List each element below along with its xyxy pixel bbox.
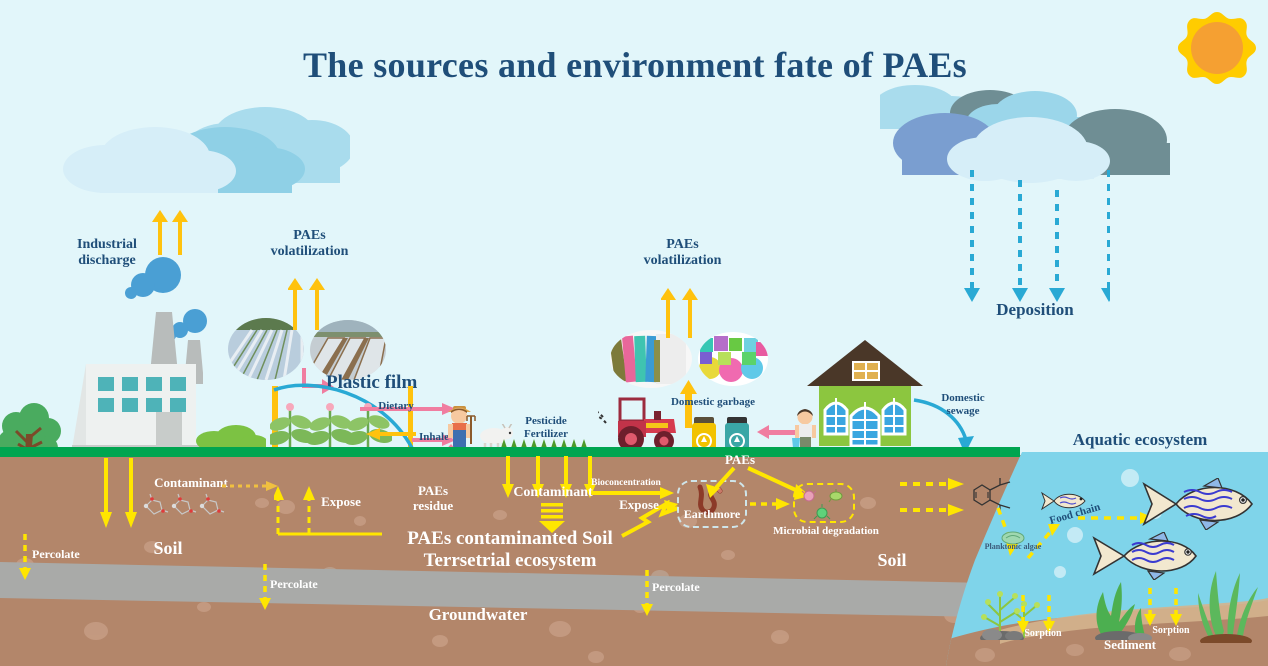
- label-planktonic-algae: Planktonic algae: [968, 542, 1058, 551]
- label-sorption-left: Sorption: [1008, 628, 1078, 640]
- diagram-canvas: Industrial discharge: [0, 0, 1268, 666]
- label-aquatic-ecosystem: Aquatic ecosystem: [1045, 430, 1235, 450]
- label-sorption-right: Sorption: [1136, 625, 1206, 637]
- page-title: The sources and environment fate of PAEs: [190, 45, 1080, 86]
- fish-icon: [1140, 478, 1256, 530]
- fish-icon: [1090, 532, 1200, 580]
- label-sediment: Sediment: [1085, 638, 1175, 653]
- small-fish-icon: [1040, 490, 1088, 512]
- soil-to-water-arrows: [900, 478, 972, 520]
